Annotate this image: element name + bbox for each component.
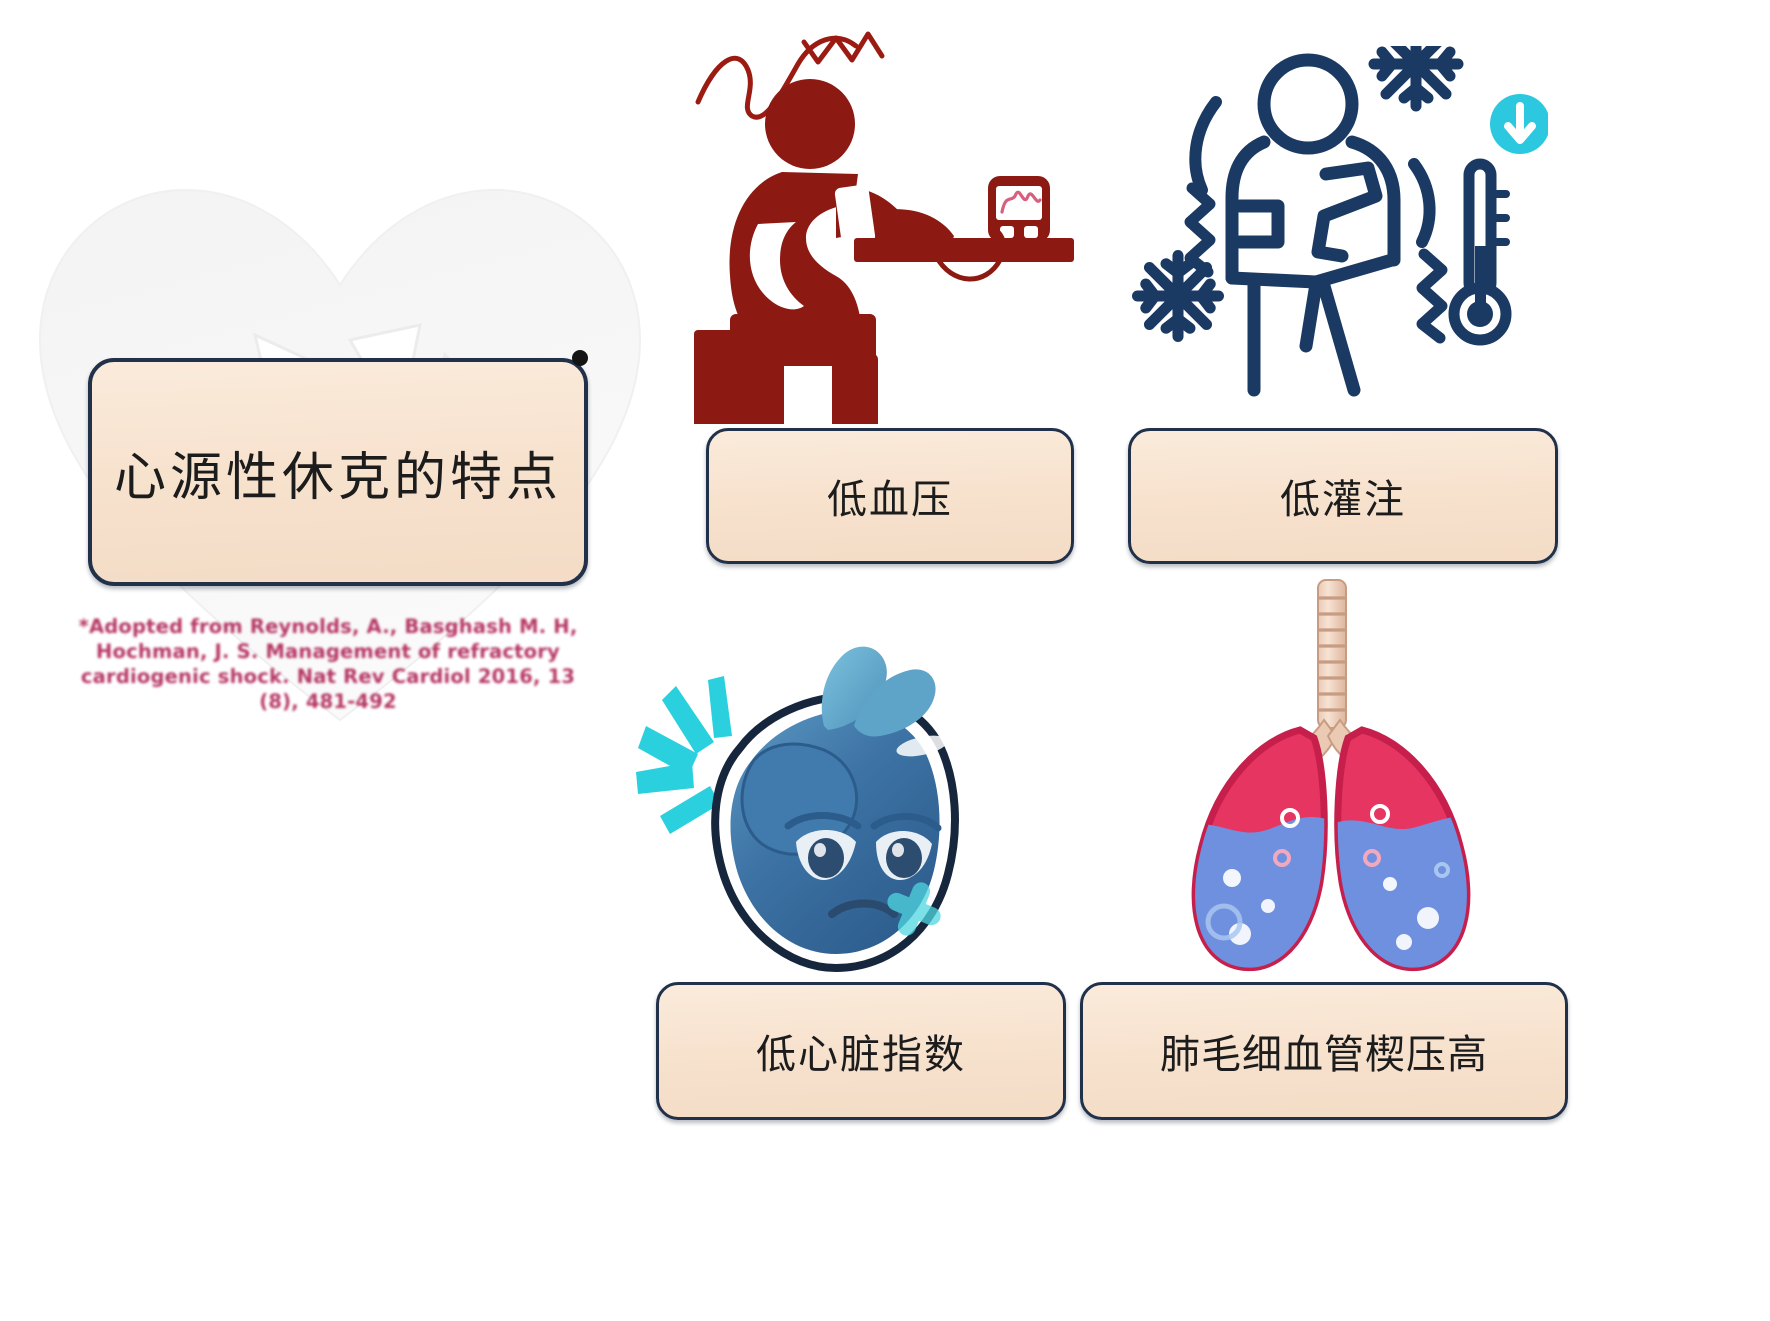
label-text-hypoperfusion: 低灌注 bbox=[1280, 467, 1406, 525]
lungs-fluid-icon bbox=[1140, 570, 1540, 990]
label-text-hypotension: 低血压 bbox=[827, 467, 953, 525]
label-text-pcwp: 肺毛细血管楔压高 bbox=[1160, 1022, 1488, 1080]
label-box-cardiac-index: 低心脏指数 bbox=[656, 982, 1066, 1120]
seated-person-blood-pressure-monitor-icon bbox=[686, 24, 1086, 424]
slide-title-box: 心源性休克的特点 bbox=[88, 358, 588, 586]
slide-canvas: 心源性休克的特点 *Adopted from Reynolds, A., Bas… bbox=[0, 0, 1770, 1321]
bullet-dot-icon bbox=[572, 350, 588, 366]
sad-blue-heart-icon bbox=[628, 630, 1008, 990]
page-title: 心源性休克的特点 bbox=[114, 435, 562, 510]
thermometer-icon bbox=[1454, 164, 1506, 340]
citation-text: *Adopted from Reynolds, A., Basghash M. … bbox=[68, 614, 588, 714]
shivering-person-snowflake-thermometer-icon bbox=[1128, 46, 1548, 426]
label-box-hypoperfusion: 低灌注 bbox=[1128, 428, 1558, 564]
label-box-pcwp: 肺毛细血管楔压高 bbox=[1080, 982, 1568, 1120]
label-box-hypotension: 低血压 bbox=[706, 428, 1074, 564]
temperature-down-badge-icon bbox=[1490, 94, 1548, 154]
label-text-cardiac-index: 低心脏指数 bbox=[756, 1022, 966, 1080]
